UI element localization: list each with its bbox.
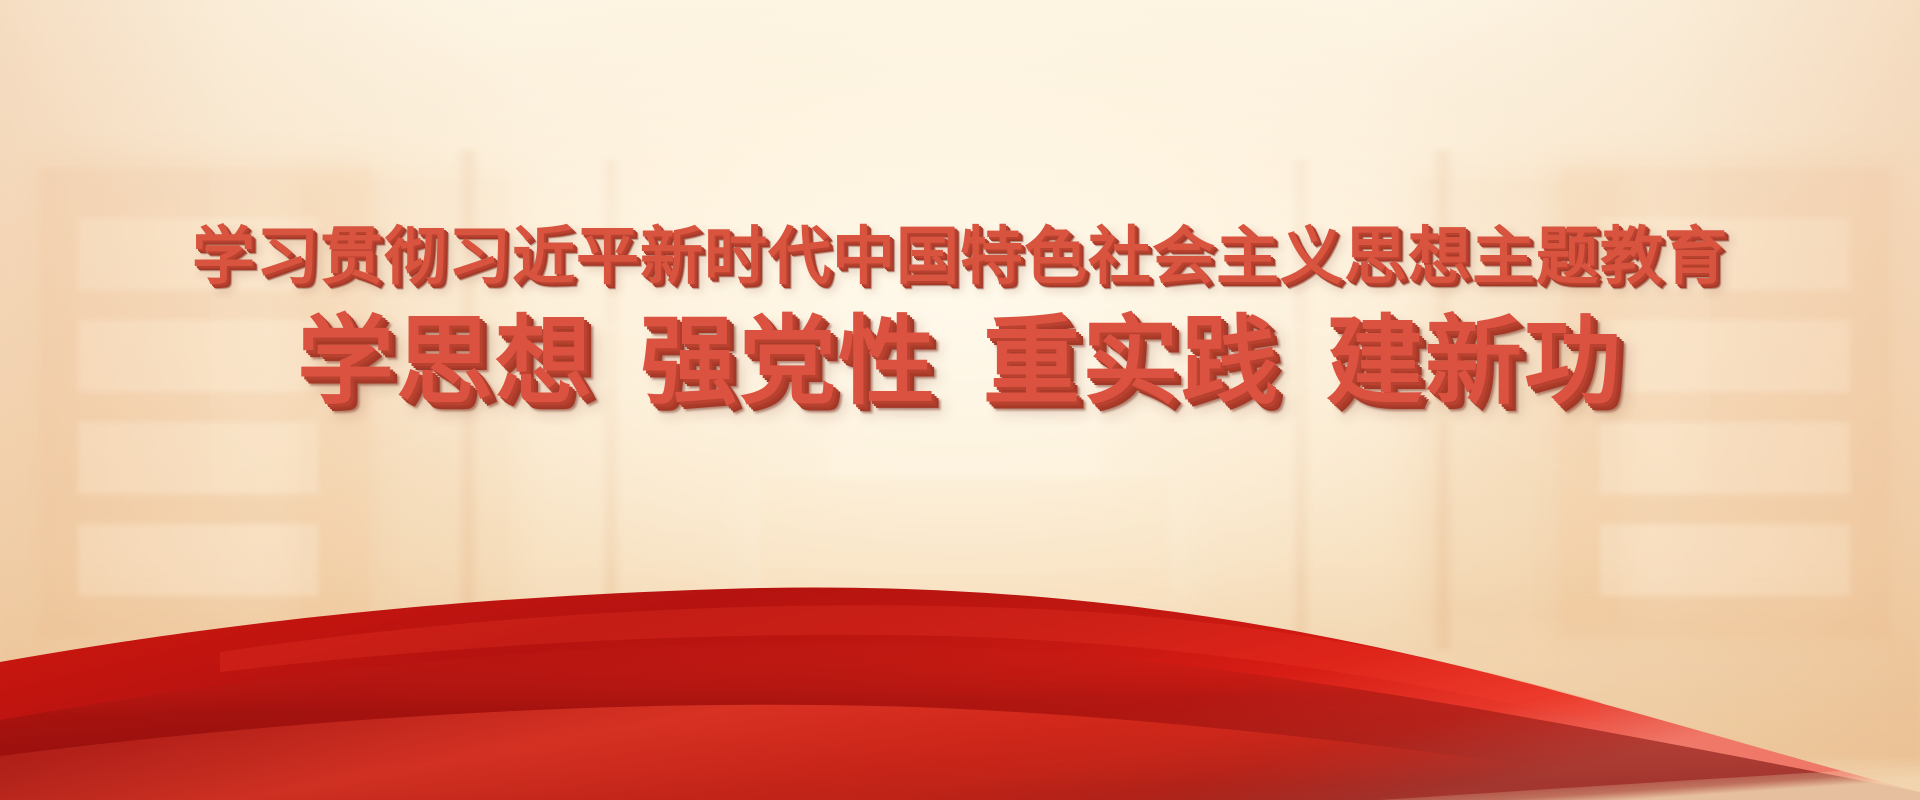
propaganda-banner: 学习贯彻习近平新时代中国特色社会主义思想主题教育 学思想强党性重实践建新功 — [0, 0, 1920, 800]
slogan-part-4: 建新功 — [1326, 307, 1623, 416]
ghost-window-band — [1600, 422, 1850, 494]
slogan-part-2: 强党性 — [640, 307, 937, 416]
slogan-part-3: 重实践 — [983, 307, 1280, 416]
slogan-part-1: 学思想 — [297, 307, 594, 416]
red-silk-ribbon — [0, 570, 1920, 800]
headline-secondary: 学思想强党性重实践建新功 — [0, 311, 1920, 413]
headline-stack: 学习贯彻习近平新时代中国特色社会主义思想主题教育 学思想强党性重实践建新功 — [0, 226, 1920, 413]
ribbon-svg — [0, 570, 1920, 800]
headline-primary: 学习贯彻习近平新时代中国特色社会主义思想主题教育 — [0, 226, 1920, 289]
ghost-window-band — [78, 422, 318, 494]
